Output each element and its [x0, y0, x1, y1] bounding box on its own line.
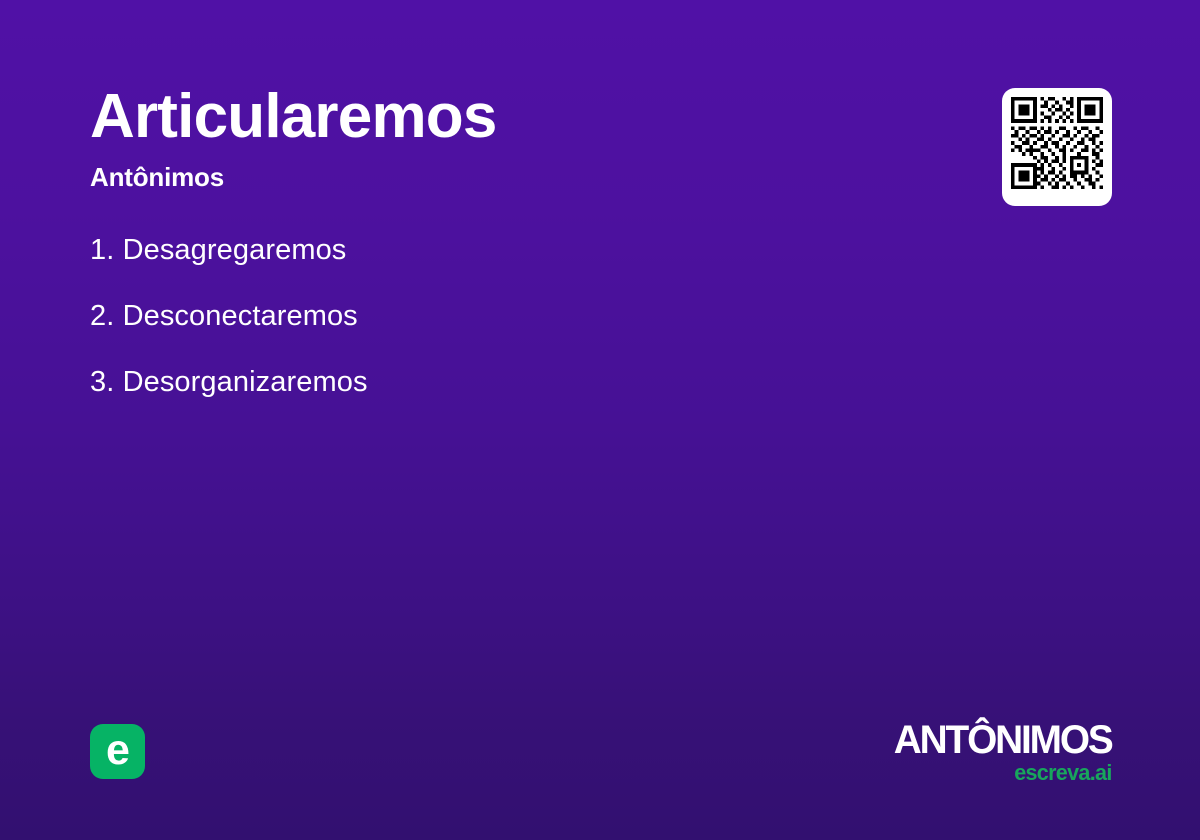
- list-item: 1. Desagregaremos: [90, 236, 910, 265]
- qr-code-icon: [1011, 97, 1103, 189]
- list-item-word: Desconectaremos: [123, 300, 358, 332]
- list-item-word: Desorganizaremos: [123, 366, 368, 398]
- list-item: 3. Desorganizaremos: [90, 368, 910, 397]
- list-item: 2. Desconectaremos: [90, 302, 910, 331]
- brand-logo[interactable]: ANTÔNIMOS escreva.ai: [887, 721, 1112, 784]
- list-item-number: 1.: [90, 234, 114, 266]
- brand-logo-subtitle: escreva.ai: [892, 762, 1112, 784]
- page-title: Articularemos: [90, 86, 910, 148]
- word-card: Articularemos Antônimos 1. Desagregaremo…: [0, 0, 1200, 840]
- escreva-e-logo-icon[interactable]: e: [90, 724, 145, 779]
- list-item-word: Desagregaremos: [123, 234, 347, 266]
- brand-mark-letter: e: [106, 729, 129, 772]
- list-item-number: 3.: [90, 366, 114, 398]
- antonyms-list: 1. Desagregaremos 2. Desconectaremos 3. …: [90, 236, 910, 397]
- list-item-number: 2.: [90, 300, 114, 332]
- qr-code-container[interactable]: [1002, 88, 1112, 206]
- brand-logo-title: ANTÔNIMOS: [894, 721, 1112, 759]
- page-subtitle: Antônimos: [90, 163, 910, 193]
- header-block: Articularemos Antônimos: [90, 86, 910, 193]
